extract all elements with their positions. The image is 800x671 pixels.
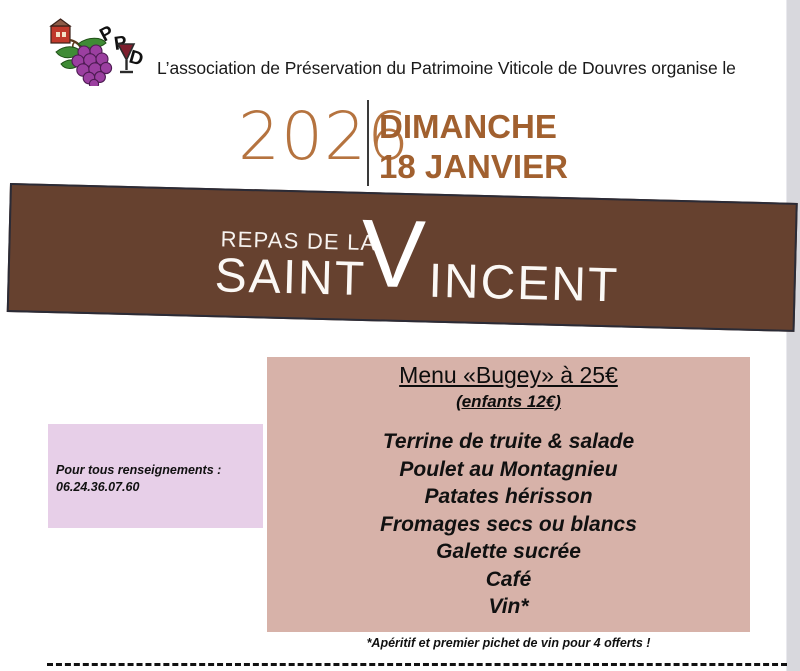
date-divider: [367, 100, 369, 186]
menu-footnote: *Apéritif et premier pichet de vin pour …: [267, 636, 750, 650]
cut-line: [47, 663, 787, 666]
menu-item: Galette sucrée: [267, 538, 750, 566]
event-weekday: DIMANCHE: [379, 107, 568, 147]
flyer-page: P P D L’association de Préservation du P…: [0, 0, 800, 671]
menu-item: Fromages secs ou blancs: [267, 511, 750, 539]
ppvd-logo: P P D: [48, 12, 152, 86]
banner-title-incent: INCENT: [428, 254, 620, 314]
menu-item: Terrine de truite & salade: [267, 428, 750, 456]
menu-items-list: Terrine de truite & salade Poulet au Mon…: [267, 428, 750, 621]
menu-subtitle: (enfants 12€): [267, 392, 750, 412]
banner-title-initial: V: [360, 206, 426, 304]
association-line: L’association de Préservation du Patrimo…: [157, 58, 736, 79]
contact-label: Pour tous renseignements :: [56, 462, 256, 479]
menu-item: Poulet au Montagnieu: [267, 456, 750, 484]
menu-item: Café: [267, 566, 750, 594]
banner-title-saint: SAINT: [214, 248, 367, 307]
contact-text: Pour tous renseignements : 06.24.36.07.6…: [56, 462, 256, 496]
menu-title: Menu «Bugey» à 25€: [267, 362, 750, 389]
wine-press-icon: [51, 19, 70, 43]
menu-item: Vin*: [267, 593, 750, 621]
banner-text-layer: REPAS DE LA SAINT V INCENT: [7, 183, 794, 328]
event-banner: REPAS DE LA SAINT V INCENT: [0, 175, 800, 350]
grape-bunch-icon: [72, 45, 112, 86]
contact-phone: 06.24.36.07.60: [56, 479, 256, 496]
menu-item: Patates hérisson: [267, 483, 750, 511]
